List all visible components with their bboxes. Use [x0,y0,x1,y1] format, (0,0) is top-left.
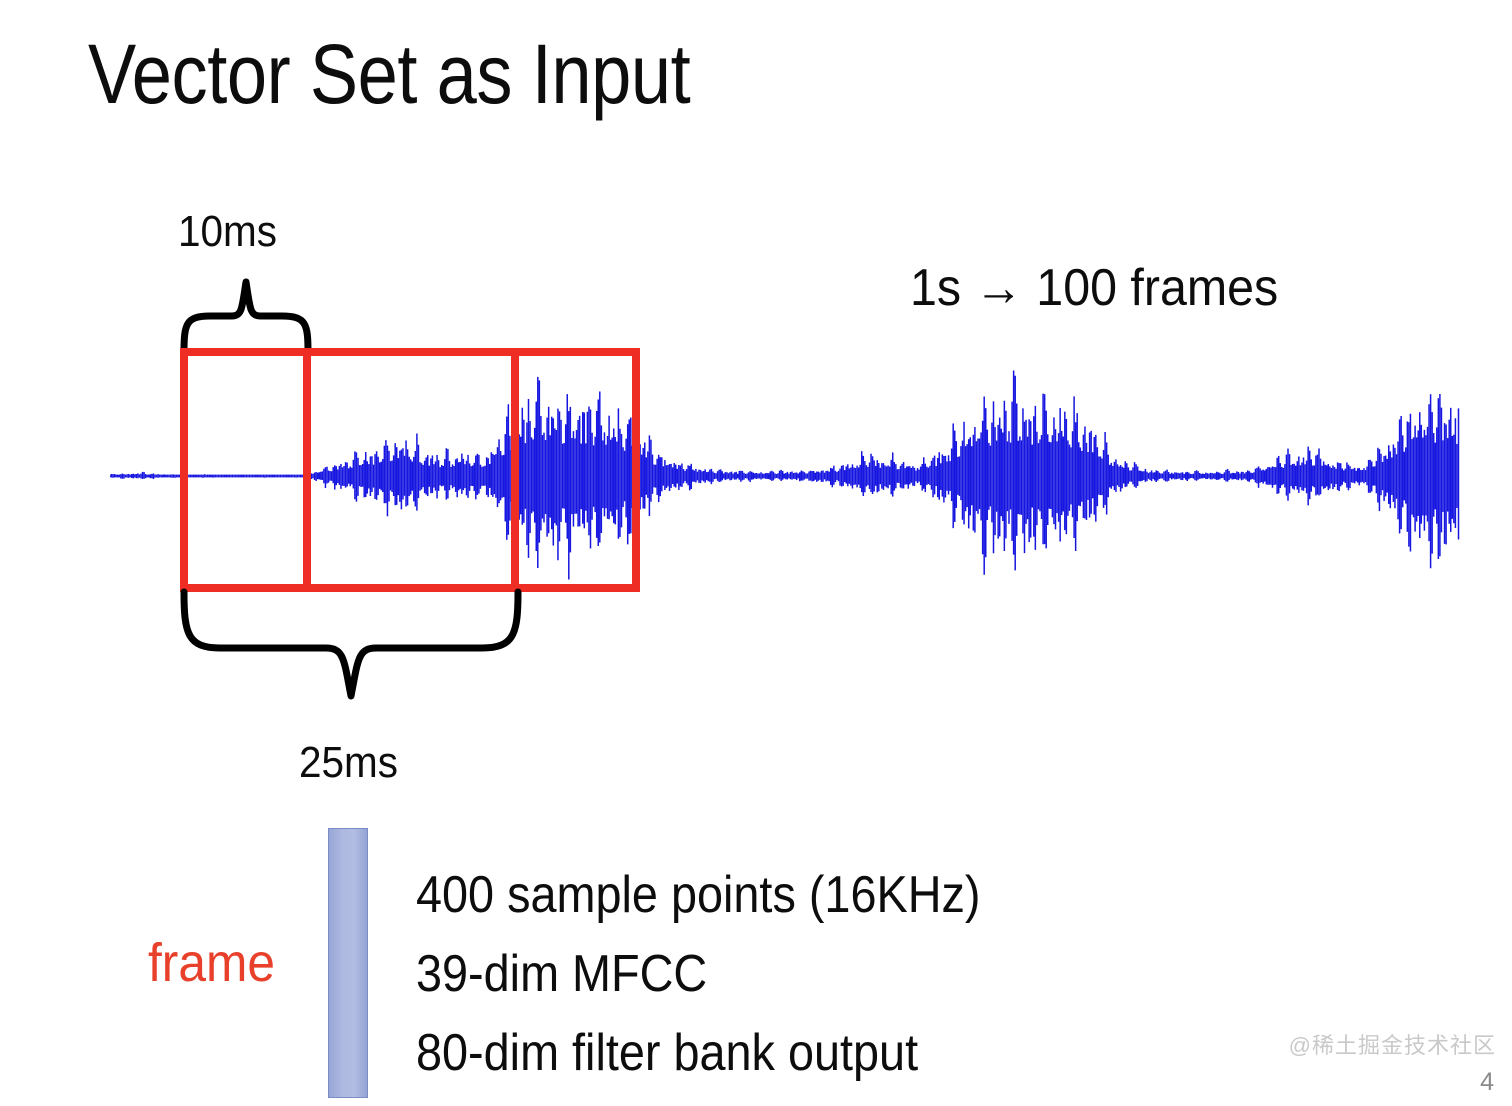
analysis-window-divider-1 [303,348,311,592]
frame-rate-note: 1s → 100 frames [910,258,1278,318]
hop-duration-label: 10ms [178,207,277,257]
spec-line-mfcc: 39-dim MFCC [416,935,1136,1014]
window-duration-label: 25ms [299,738,398,788]
spec-line-sample-points: 400 sample points (16KHz) [416,856,1136,935]
page-title: Vector Set as Input [88,32,690,116]
watermark: @稀土掘金技术社区 [1289,1028,1496,1060]
window-brace-icon [176,588,526,700]
frame-vector-bar [328,828,368,1098]
frame-label: frame [148,932,275,994]
hop-brace-icon [176,278,316,354]
spec-line-filter-bank: 80-dim filter bank output [416,1014,1136,1093]
frame-spec-list: 400 sample points (16KHz) 39-dim MFCC 80… [416,856,1216,1093]
slide-canvas: Vector Set as Input 10ms 1s → 100 frames… [0,0,1512,1106]
analysis-window-divider-2 [511,348,519,592]
analysis-window-box [180,348,640,592]
page-number: 4 [1480,1068,1494,1097]
